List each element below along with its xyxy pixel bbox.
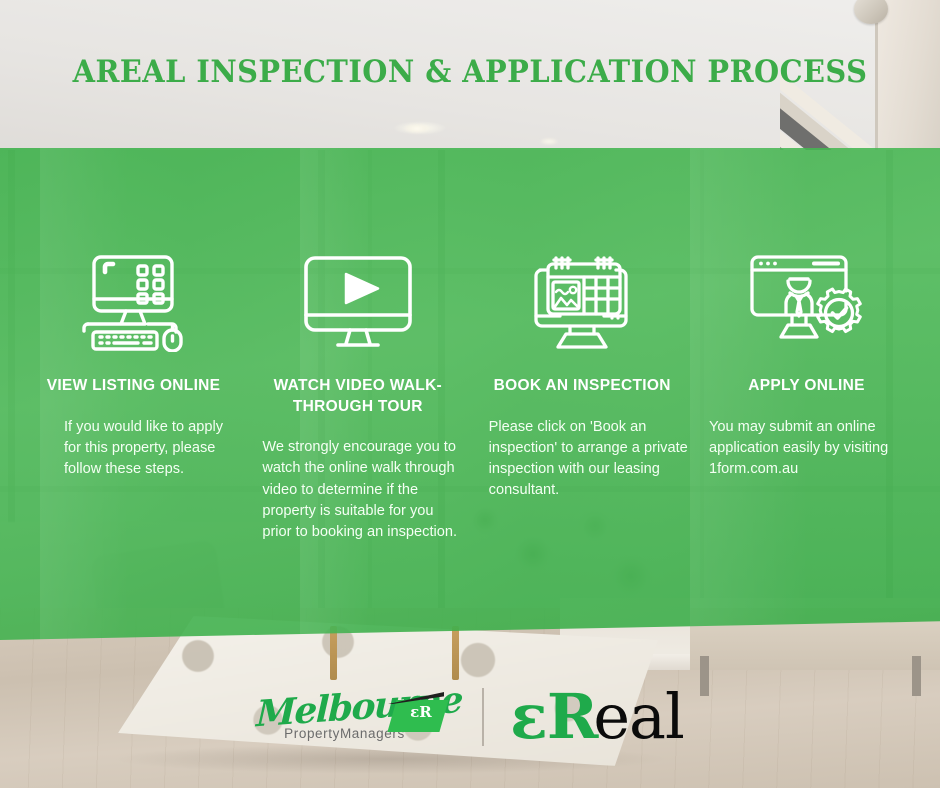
step-book-an-inspection: BOOK AN INSPECTION Please click on 'Book… [475,250,690,501]
step-view-listing-online: VIEW LISTING ONLINE If you would like to… [26,250,241,480]
er-monogram: ɛR [410,703,432,721]
step-title: WATCH VIDEO WALK-THROUGH TOUR [250,376,465,417]
monitor-play-video-icon [300,250,416,354]
step-body: You may submit an online application eas… [699,417,914,480]
property-managers-text: PropertyManagers [284,726,405,741]
areal-logo[interactable]: ɛR eal [510,686,684,748]
step-body: Please click on 'Book an inspection' to … [475,417,690,502]
page-title: AREAL INSPECTION & APPLICATION PROCESS [33,54,907,90]
step-title: APPLY ONLINE [748,376,864,397]
areal-wordmark: eal [593,686,683,748]
step-apply-online: APPLY ONLINE You may submit an online ap… [699,250,914,480]
ceiling-downlight [404,124,430,133]
infographic-poster: AREAL INSPECTION & APPLICATION PROCESS [0,0,940,788]
melbourne-property-managers-logo[interactable]: Melbourne PropertyManagers ɛR [256,682,456,752]
desktop-listing-icon [80,250,188,354]
step-title: BOOK AN INSPECTION [494,376,671,397]
monitor-person-gear-check-icon [744,250,868,354]
areal-er-mark: ɛR [510,686,597,748]
footer-logos: Melbourne PropertyManagers ɛR ɛR eal [0,682,940,752]
step-body: We strongly encourage you to watch the o… [250,437,465,543]
logo-divider [482,688,484,746]
ceiling-downlight [540,138,558,145]
house-roof-icon: ɛR [388,692,446,732]
monitor-calendar-photo-icon [526,250,638,354]
step-title: VIEW LISTING ONLINE [47,376,221,397]
process-steps: VIEW LISTING ONLINE If you would like to… [26,250,914,543]
step-body: If you would like to apply for this prop… [26,417,241,480]
step-watch-video-walkthrough: WATCH VIDEO WALK-THROUGH TOUR We strongl… [250,250,465,543]
